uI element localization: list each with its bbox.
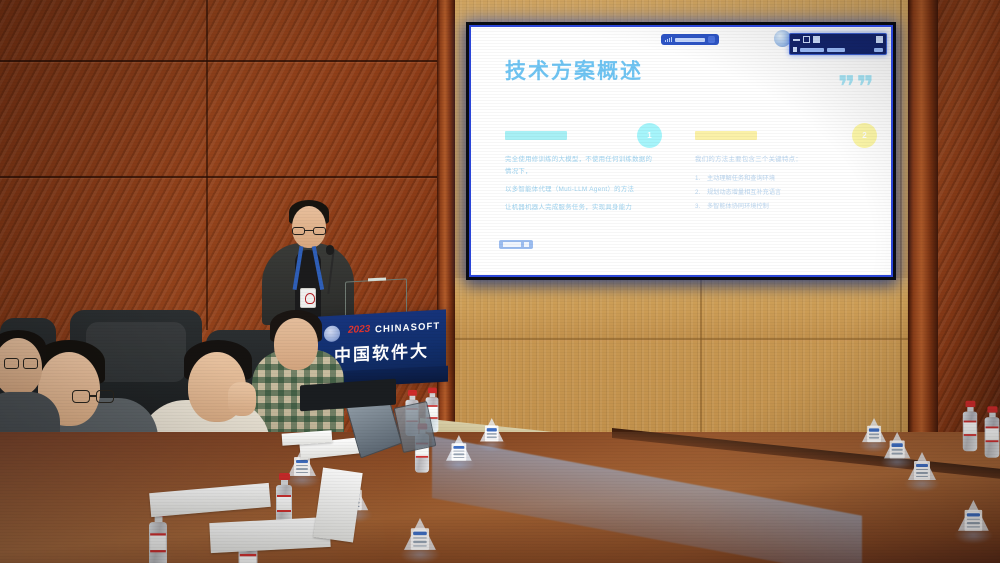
water-bottle bbox=[963, 401, 977, 451]
attendee-head bbox=[274, 318, 318, 370]
list-item: 主动理解任务和查询环境 bbox=[695, 172, 845, 186]
slide-badge-one: 1 bbox=[637, 123, 662, 148]
column-accent-bar bbox=[505, 131, 567, 140]
slide-nav-chip[interactable] bbox=[499, 240, 533, 249]
back-wall-right-dark-wood bbox=[938, 0, 1000, 470]
share-icon[interactable] bbox=[708, 36, 715, 43]
meeting-info-row[interactable] bbox=[790, 45, 886, 54]
wall-seam bbox=[452, 338, 912, 340]
restore-icon[interactable] bbox=[803, 36, 810, 43]
conference-room-scene: 技术方案概述 ❞❞ 完全使用修训练的大模型，不使用任何训练数据的情况下， 以多智… bbox=[0, 0, 1000, 563]
presentation-slide: 技术方案概述 ❞❞ 完全使用修训练的大模型，不使用任何训练数据的情况下， 以多智… bbox=[471, 27, 891, 275]
glasses-icon bbox=[72, 390, 114, 403]
laptop-hinge bbox=[368, 277, 386, 281]
meeting-control-toolbar[interactable] bbox=[789, 33, 887, 55]
close-icon[interactable] bbox=[813, 36, 820, 43]
attendee-hand bbox=[228, 382, 256, 416]
meeting-info-label[interactable] bbox=[800, 48, 824, 52]
slide-column-right: 我们的方法主要包含三个关键特点： 主动理解任务和查询环境 规划动态增量相互补充语… bbox=[695, 131, 845, 215]
participants-label[interactable] bbox=[827, 48, 845, 52]
column-body-left: 完全使用修训练的大模型，不使用任何训练数据的情况下， 以多智能体代理（Muti-… bbox=[505, 154, 655, 213]
slide-paragraph: 以多智能体代理（Muti-LLM Agent）的方法 bbox=[505, 184, 655, 196]
signal-icon bbox=[665, 37, 672, 42]
wall-pilaster-left bbox=[437, 0, 455, 460]
slide-paragraph: 我们的方法主要包含三个关键特点： bbox=[695, 154, 845, 166]
conference-emblem-icon bbox=[324, 325, 340, 342]
banner-english-title: CHINASOFT bbox=[375, 321, 440, 336]
list-item: 多智能体协同环境控制 bbox=[695, 200, 845, 214]
slide-title: 技术方案概述 bbox=[505, 55, 643, 85]
wall-seam bbox=[700, 278, 702, 436]
slide-numbered-list: 主动理解任务和查询环境 规划动态增量相互补充语言 多智能体协同环境控制 bbox=[695, 172, 845, 215]
list-item: 规划动态增量相互补充语言 bbox=[695, 186, 845, 200]
accent-wall-shadow-band bbox=[452, 278, 912, 338]
microphone-icon bbox=[326, 245, 334, 255]
chip-label-bar bbox=[503, 242, 521, 247]
banner-year: 2023 bbox=[348, 324, 370, 336]
column-accent-bar bbox=[695, 131, 757, 140]
wall-seam bbox=[0, 60, 450, 62]
column-body-right: 我们的方法主要包含三个关键特点： 主动理解任务和查询环境 规划动态增量相互补充语… bbox=[695, 154, 845, 215]
slide-paragraph: 让机器机器人完成服务任务，实现具身能力 bbox=[505, 202, 655, 214]
slide-column-left: 完全使用修训练的大模型，不使用任何训练数据的情况下， 以多智能体代理（Muti-… bbox=[505, 131, 655, 219]
quote-mark-icon: ❞❞ bbox=[838, 77, 875, 98]
water-bottle bbox=[985, 406, 1000, 458]
wall-display[interactable]: 技术方案概述 ❞❞ 完全使用修训练的大模型，不使用任何训练数据的情况下， 以多智… bbox=[466, 22, 896, 280]
badge-card bbox=[300, 288, 316, 308]
notification-text bbox=[675, 38, 705, 42]
wall-seam bbox=[206, 0, 208, 330]
info-icon bbox=[793, 47, 797, 52]
window-controls-row[interactable] bbox=[790, 34, 886, 45]
slide-paragraph: 完全使用修训练的大模型，不使用任何训练数据的情况下， bbox=[505, 154, 655, 178]
menu-icon[interactable] bbox=[876, 36, 883, 43]
volume-icon[interactable] bbox=[874, 48, 883, 52]
wall-seam bbox=[0, 176, 450, 178]
glasses-icon bbox=[292, 227, 326, 235]
minimize-icon[interactable] bbox=[793, 39, 800, 41]
meeting-notification-pill[interactable] bbox=[661, 34, 719, 45]
slide-badge-two: 2 bbox=[852, 123, 877, 148]
wall-pilaster-right bbox=[908, 0, 938, 470]
wall-seam bbox=[900, 0, 902, 436]
chip-icon bbox=[524, 242, 529, 247]
glasses-icon bbox=[4, 358, 38, 369]
